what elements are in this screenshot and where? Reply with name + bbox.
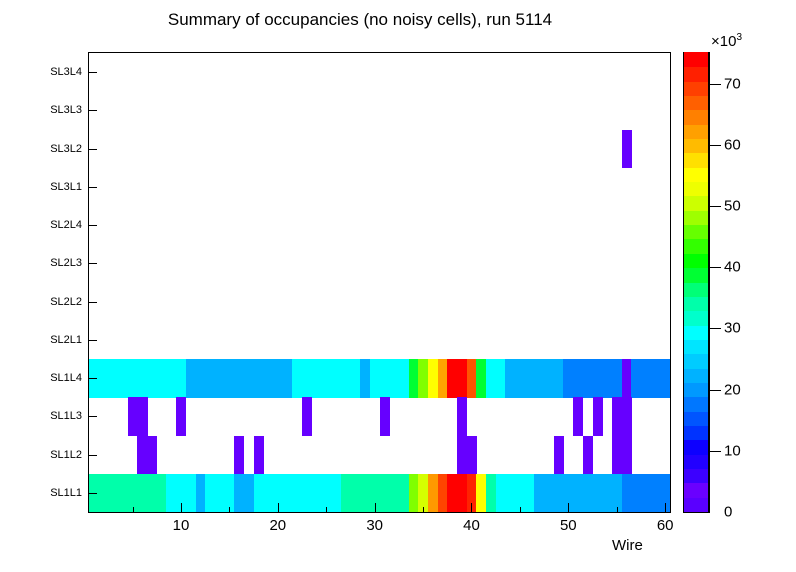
heatmap-cell — [292, 474, 302, 512]
heatmap-cell — [525, 474, 535, 512]
heatmap-cell — [476, 474, 486, 512]
y-axis-tick — [88, 340, 97, 341]
heatmap-cell — [273, 359, 283, 398]
heatmap-cell — [622, 397, 632, 436]
y-axis-tick-label-sl3l4: SL3L4 — [26, 66, 82, 78]
y-axis-tick-label-sl2l2: SL2L2 — [26, 296, 82, 308]
heatmap-cell — [438, 359, 448, 398]
heatmap-cell — [447, 359, 457, 398]
heatmap-cell — [457, 474, 467, 512]
heatmap-cell — [457, 436, 467, 475]
z-axis-tick-label-60: 60 — [724, 136, 741, 153]
heatmap-cell — [534, 359, 544, 398]
heatmap-cell — [283, 474, 293, 512]
y-axis-tick — [88, 225, 97, 226]
y-axis-tick-label-sl3l1: SL3L1 — [26, 181, 82, 193]
z-axis-tick — [709, 451, 721, 452]
heatmap-cell — [302, 397, 312, 436]
y-axis-tick-label-sl2l4: SL2L4 — [26, 219, 82, 231]
heatmap-cell — [99, 474, 109, 512]
heatmap-cell — [283, 359, 293, 398]
color-scale-segment — [684, 52, 708, 67]
heatmap-cell — [302, 359, 312, 398]
color-scale-segment — [684, 411, 708, 426]
x-axis-tick — [617, 507, 618, 512]
heatmap-cell — [651, 359, 661, 398]
y-axis-tick — [88, 302, 97, 303]
heatmap-cell — [147, 359, 157, 398]
heatmap-cell — [457, 359, 467, 398]
color-scale-segment — [684, 253, 708, 268]
plot-frame — [88, 52, 671, 513]
heatmap-cell — [312, 359, 322, 398]
heatmap-cell — [99, 359, 109, 398]
heatmap-cell — [389, 474, 399, 512]
z-axis-tick-label-30: 30 — [724, 320, 741, 337]
color-scale-segment — [684, 167, 708, 182]
heatmap-cell — [505, 474, 515, 512]
x-axis-tick — [133, 507, 134, 512]
z-axis-tick — [709, 145, 721, 146]
color-scale-segment — [684, 382, 708, 397]
color-scale-segment — [684, 354, 708, 369]
heatmap-cell — [583, 436, 593, 475]
heatmap-cell — [622, 130, 632, 169]
heatmap-cell — [350, 474, 360, 512]
heatmap-cell — [554, 436, 564, 475]
heatmap-cell — [360, 359, 370, 398]
color-scale-segment — [684, 210, 708, 225]
z-axis-tick-label-0: 0 — [724, 504, 732, 521]
color-scale-segment — [684, 138, 708, 153]
heatmap-cell — [302, 474, 312, 512]
heatmap-cell — [186, 359, 196, 398]
heatmap-cell — [612, 359, 622, 398]
z-axis-tick-label-70: 70 — [724, 75, 741, 92]
heatmap-cell — [176, 359, 186, 398]
color-scale-segment — [684, 268, 708, 283]
heatmap-cell — [380, 397, 390, 436]
heatmap-cell — [573, 397, 583, 436]
heatmap-cell — [137, 474, 147, 512]
heatmap-cell — [244, 359, 254, 398]
heatmap-cell — [254, 474, 264, 512]
heatmap-cell — [389, 359, 399, 398]
heatmap-cell — [428, 474, 438, 512]
heatmap-cell — [157, 474, 167, 512]
x-axis-tick — [326, 507, 327, 512]
heatmap-cell — [234, 436, 244, 475]
heatmap-cell — [573, 474, 583, 512]
heatmap-cell — [147, 436, 157, 475]
x-axis-tick-label-30: 30 — [366, 517, 383, 534]
z-axis-tick-label-10: 10 — [724, 442, 741, 459]
heatmap-cell — [205, 359, 215, 398]
color-scale-segment — [684, 182, 708, 197]
color-scale-segment — [684, 483, 708, 498]
color-scale-segment — [684, 497, 708, 512]
x-axis-tick-label-40: 40 — [463, 517, 480, 534]
color-scale-segment — [684, 196, 708, 211]
z-exponent-base: ×10 — [711, 33, 736, 50]
heatmap-cell — [118, 474, 128, 512]
y-axis-tick — [88, 378, 97, 379]
heatmap-cell — [321, 359, 331, 398]
color-scale-segment — [684, 454, 708, 469]
heatmap-cell — [157, 359, 167, 398]
y-axis-tick — [88, 455, 97, 456]
heatmap-cell — [244, 474, 254, 512]
x-axis-tick — [423, 507, 424, 512]
chart-title: Summary of occupancies (no noisy cells),… — [0, 10, 720, 30]
heatmap-cell — [641, 474, 651, 512]
heatmap-cell — [438, 474, 448, 512]
y-axis-tick-label-sl3l2: SL3L2 — [26, 143, 82, 155]
heatmap-cell — [225, 359, 235, 398]
heatmap-cell — [370, 359, 380, 398]
z-exponent-power: 3 — [736, 32, 742, 43]
y-axis-tick — [88, 72, 97, 73]
heatmap-cell — [476, 359, 486, 398]
heatmap-cell — [128, 397, 138, 436]
heatmap-cell — [534, 474, 544, 512]
heatmap-cell — [525, 359, 535, 398]
z-axis-tick-label-40: 40 — [724, 259, 741, 276]
y-axis-tick-label-sl1l4: SL1L4 — [26, 372, 82, 384]
heatmap-cell — [447, 474, 457, 512]
heatmap-cell — [350, 359, 360, 398]
heatmap-cell — [651, 474, 661, 512]
heatmap-cell — [254, 359, 264, 398]
heatmap-cell — [544, 359, 554, 398]
heatmap-cell — [660, 359, 670, 398]
y-axis-tick — [88, 416, 97, 417]
z-axis-tick — [709, 267, 721, 268]
heatmap-cell — [641, 359, 651, 398]
x-axis-tick — [278, 503, 279, 512]
color-scale-segment — [684, 124, 708, 139]
heatmap-cell — [457, 397, 467, 436]
heatmap-cell — [622, 359, 632, 398]
heatmap-cell — [166, 474, 176, 512]
heatmap-cell — [292, 359, 302, 398]
heatmap-cell — [118, 359, 128, 398]
heatmap-cell — [312, 474, 322, 512]
heatmap-cell — [331, 359, 341, 398]
color-scale-segment — [684, 425, 708, 440]
y-axis-tick-label-sl1l2: SL1L2 — [26, 449, 82, 461]
x-axis-tick-label-10: 10 — [173, 517, 190, 534]
heatmap-cell — [215, 359, 225, 398]
heatmap-cell — [486, 474, 496, 512]
z-axis-tick — [709, 84, 721, 85]
heatmap-cell — [486, 359, 496, 398]
heatmap-cell — [515, 359, 525, 398]
heatmap-cell — [196, 359, 206, 398]
y-axis-tick — [88, 493, 97, 494]
heatmap-cell — [234, 474, 244, 512]
x-axis-tick — [568, 503, 569, 512]
y-axis-tick-label-sl1l3: SL1L3 — [26, 410, 82, 422]
color-scale-segment — [684, 311, 708, 326]
heatmap-cell — [563, 359, 573, 398]
x-axis-tick — [229, 507, 230, 512]
heatmap-cell — [593, 474, 603, 512]
heatmap-cell — [622, 474, 632, 512]
heatmap-cell — [583, 474, 593, 512]
z-axis-tick-label-20: 20 — [724, 381, 741, 398]
heatmap-cell — [631, 359, 641, 398]
color-scale-axis-line — [709, 52, 710, 513]
color-scale-segment — [684, 325, 708, 340]
color-scale-segment — [684, 225, 708, 240]
heatmap-cell — [467, 436, 477, 475]
heatmap-cell — [108, 474, 118, 512]
color-scale-segment — [684, 95, 708, 110]
heatmap-cell — [631, 474, 641, 512]
z-axis-exponent: ×103 — [711, 32, 742, 50]
y-axis-tick-label-sl2l1: SL2L1 — [26, 334, 82, 346]
color-scale-segment — [684, 239, 708, 254]
heatmap-cell — [186, 474, 196, 512]
heatmap-cell — [418, 359, 428, 398]
heatmap-cell — [166, 359, 176, 398]
y-axis-tick-label-sl3l3: SL3L3 — [26, 104, 82, 116]
y-axis-tick — [88, 149, 97, 150]
color-scale-segment — [684, 368, 708, 383]
heatmap-cell — [554, 359, 564, 398]
heatmap-cell — [380, 474, 390, 512]
heatmap-cell — [554, 474, 564, 512]
heatmap-cell — [360, 474, 370, 512]
x-axis-tick — [375, 503, 376, 512]
color-scale-segment — [684, 282, 708, 297]
x-axis-title: Wire — [612, 537, 643, 554]
heatmap-cell — [399, 359, 409, 398]
heatmap-cell — [496, 474, 506, 512]
heatmap-cell — [263, 474, 273, 512]
y-axis-tick — [88, 187, 97, 188]
heatmap-plot-area[interactable] — [89, 53, 670, 512]
x-axis-tick — [471, 503, 472, 512]
heatmap-cell — [205, 474, 215, 512]
heatmap-cell — [234, 359, 244, 398]
heatmap-cell — [137, 359, 147, 398]
heatmap-cell — [602, 359, 612, 398]
color-scale-segment — [684, 296, 708, 311]
y-axis-tick — [88, 110, 97, 111]
z-axis-tick-label-50: 50 — [724, 198, 741, 215]
x-axis-tick-label-20: 20 — [269, 517, 286, 534]
color-scale-segment — [684, 440, 708, 455]
heatmap-cell — [409, 359, 419, 398]
heatmap-cell — [147, 474, 157, 512]
y-axis-tick-label-sl1l1: SL1L1 — [26, 487, 82, 499]
heatmap-cell — [380, 359, 390, 398]
color-scale-segment — [684, 397, 708, 412]
color-scale-segment — [684, 110, 708, 125]
color-scale-segment — [684, 153, 708, 168]
color-scale-segment — [684, 81, 708, 96]
z-axis-tick — [709, 390, 721, 391]
color-scale-segment — [684, 339, 708, 354]
z-axis-tick — [709, 328, 721, 329]
chart-canvas: Summary of occupancies (no noisy cells),… — [0, 0, 796, 572]
z-axis-tick — [709, 206, 721, 207]
heatmap-cell — [176, 397, 186, 436]
y-axis-tick — [88, 263, 97, 264]
heatmap-cell — [602, 474, 612, 512]
heatmap-cell — [128, 359, 138, 398]
heatmap-cell — [496, 359, 506, 398]
x-axis-tick — [665, 503, 666, 512]
heatmap-cell — [331, 474, 341, 512]
heatmap-cell — [137, 397, 147, 436]
heatmap-cell — [108, 359, 118, 398]
color-scale-bar — [683, 52, 709, 513]
heatmap-cell — [505, 359, 515, 398]
y-axis-tick-label-sl2l3: SL2L3 — [26, 257, 82, 269]
color-scale-segment — [684, 468, 708, 483]
heatmap-cell — [612, 436, 622, 475]
heatmap-cell — [215, 474, 225, 512]
heatmap-cell — [593, 359, 603, 398]
heatmap-cell — [428, 359, 438, 398]
heatmap-cell — [467, 359, 477, 398]
x-axis-tick — [181, 503, 182, 512]
heatmap-cell — [573, 359, 583, 398]
heatmap-cell — [254, 436, 264, 475]
heatmap-cell — [341, 474, 351, 512]
color-scale-segment — [684, 67, 708, 82]
x-axis-tick — [520, 507, 521, 512]
heatmap-cell — [583, 359, 593, 398]
heatmap-cell — [593, 397, 603, 436]
heatmap-cell — [137, 436, 147, 475]
x-axis-tick-label-60: 60 — [657, 517, 674, 534]
heatmap-cell — [196, 474, 206, 512]
heatmap-cell — [544, 474, 554, 512]
heatmap-cell — [263, 359, 273, 398]
heatmap-cell — [612, 397, 622, 436]
heatmap-cell — [622, 436, 632, 475]
heatmap-cell — [399, 474, 409, 512]
heatmap-cell — [409, 474, 419, 512]
x-axis-tick-label-50: 50 — [560, 517, 577, 534]
heatmap-cell — [341, 359, 351, 398]
